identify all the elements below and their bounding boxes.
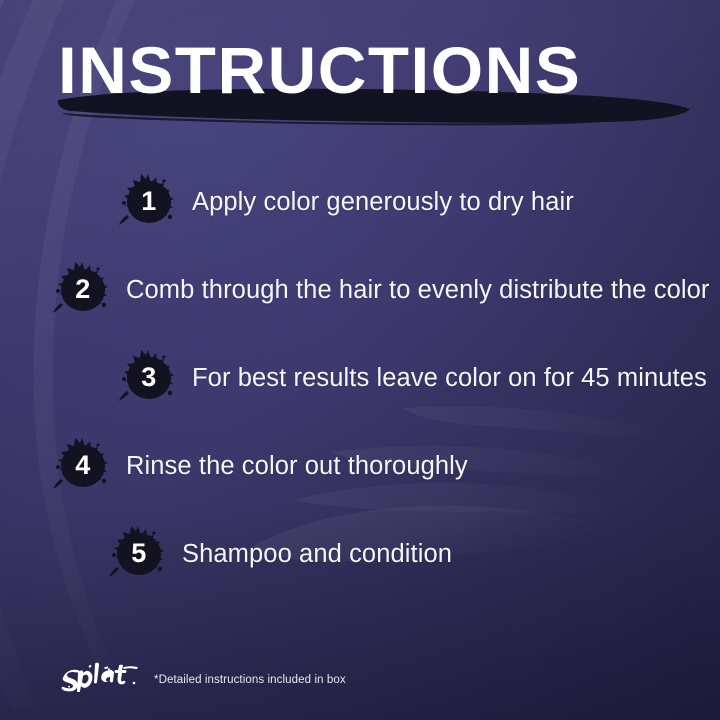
step-number: 1 [118,171,180,233]
step-item: 1 Apply color generously to dry hair [0,158,720,246]
ink-splat-icon: 5 [108,523,170,585]
step-number: 4 [52,435,114,497]
step-item: 5 Shampoo and condition [0,510,720,598]
step-item: 2 Comb through the hair to evenly distri… [0,246,720,334]
splat-brand-logo [58,658,140,692]
instructions-poster: INSTRUCTIONS 1 Apply color generously to… [0,0,720,720]
footer: *Detailed instructions included in box [58,658,346,692]
ink-splat-icon: 2 [52,259,114,321]
step-number: 2 [52,259,114,321]
step-number: 3 [118,347,180,409]
step-item: 4 Rinse the color out thoroughly [0,422,720,510]
ink-splat-icon: 4 [52,435,114,497]
step-text: Apply color generously to dry hair [192,187,574,217]
header: INSTRUCTIONS [56,34,704,126]
step-text: Rinse the color out thoroughly [126,451,468,481]
step-number: 5 [108,523,170,585]
step-text: Shampoo and condition [182,539,452,569]
steps-list: 1 Apply color generously to dry hair 2 C… [0,158,720,598]
step-text: For best results leave color on for 45 m… [192,363,707,393]
ink-splat-icon: 3 [118,347,180,409]
footnote-text: *Detailed instructions included in box [154,674,346,687]
page-title: INSTRUCTIONS [58,34,581,106]
ink-splat-icon: 1 [118,171,180,233]
step-text: Comb through the hair to evenly distribu… [126,275,710,305]
step-item: 3 For best results leave color on for 45… [0,334,720,422]
